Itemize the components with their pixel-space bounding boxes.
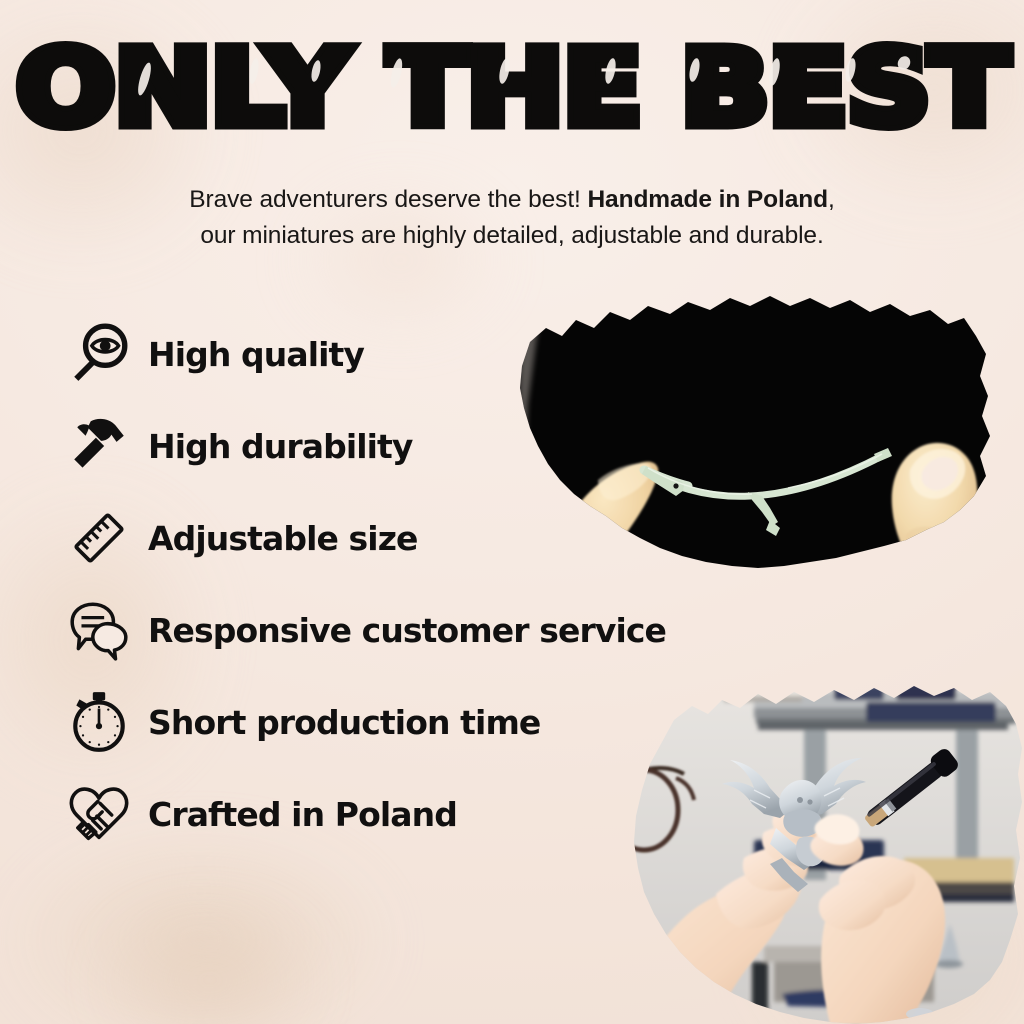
subtitle-line-1: Brave adventurers deserve the best! Hand… xyxy=(189,186,834,213)
subtitle-comma: , xyxy=(828,186,835,213)
photo-bending-miniature xyxy=(498,284,1004,594)
photo-painting-workshop xyxy=(604,662,1024,1024)
feature-label: Short production time xyxy=(148,703,540,742)
page-title-text: ONLY THE BEST xyxy=(16,36,1008,140)
poster-canvas: ONLY THE BEST Brave adventurers deserve … xyxy=(0,0,1024,1024)
feature-label: High durability xyxy=(148,427,413,466)
speech-bubbles-icon xyxy=(62,593,136,667)
subtitle-plain-lead: Brave adventurers deserve the best! xyxy=(189,186,587,213)
magnifier-eye-icon xyxy=(62,317,136,391)
hammer-icon xyxy=(62,409,136,483)
feature-label: High quality xyxy=(148,335,364,374)
handshake-heart-icon xyxy=(62,777,136,851)
feature-label: Crafted in Poland xyxy=(148,795,457,834)
subtitle: Brave adventurers deserve the best! Hand… xyxy=(60,182,964,254)
subtitle-line-2: our miniatures are highly detailed, adju… xyxy=(200,222,823,249)
subtitle-bold-phrase: Handmade in Poland xyxy=(587,186,828,213)
page-title: ONLY THE BEST xyxy=(0,36,1024,140)
ruler-icon xyxy=(62,501,136,575)
feature-label: Adjustable size xyxy=(148,519,418,558)
feature-label: Responsive customer service xyxy=(148,611,666,650)
stopwatch-icon xyxy=(62,685,136,759)
